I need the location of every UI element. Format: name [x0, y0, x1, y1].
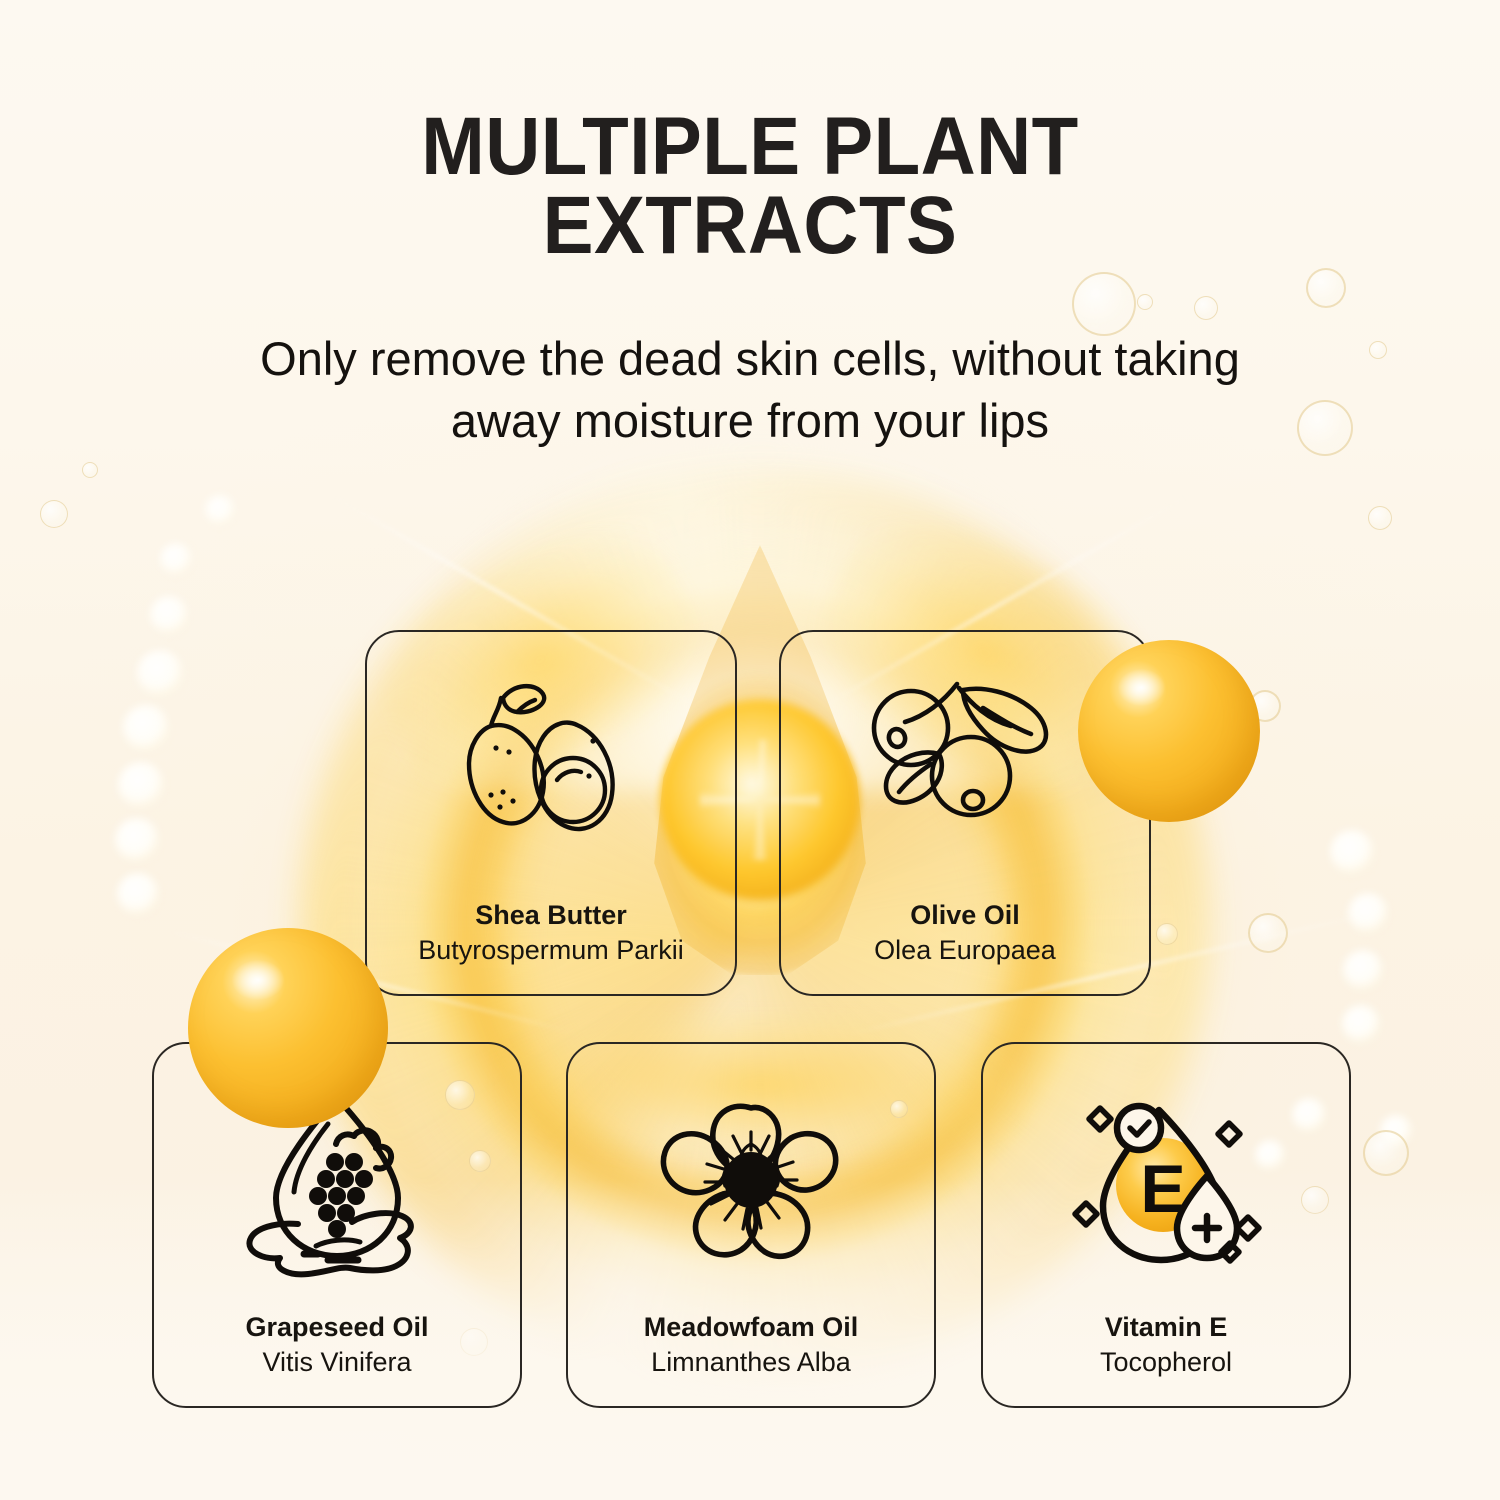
- bubble: [1194, 296, 1218, 320]
- bubble: [1368, 506, 1392, 530]
- bokeh-dot: [1342, 1005, 1380, 1043]
- ingredient-latin-name: Limnanthes Alba: [568, 1345, 934, 1380]
- bokeh-dot: [1343, 950, 1383, 990]
- ingredient-latin-name: Olea Europaea: [781, 933, 1149, 968]
- page-subtitle-line-1: Only remove the dead skin cells, without…: [110, 328, 1390, 390]
- bubble: [1248, 913, 1288, 953]
- bubble: [1137, 294, 1153, 310]
- bokeh-dot: [1380, 1115, 1412, 1147]
- bokeh-dot: [160, 543, 192, 575]
- ingredient-latin-name: Butyrospermum Parkii: [367, 933, 735, 968]
- bubble: [1363, 1130, 1409, 1176]
- page-subtitle: Only remove the dead skin cells, without…: [110, 328, 1390, 452]
- ingredient-card-text: Grapeseed Oil Vitis Vinifera: [154, 1310, 520, 1380]
- bokeh-dot: [205, 495, 235, 525]
- bokeh-dot: [150, 596, 188, 634]
- ingredient-card-text: Shea Butter Butyrospermum Parkii: [367, 898, 735, 968]
- ingredient-latin-name: Vitis Vinifera: [154, 1345, 520, 1380]
- vitamin-letter: E: [1140, 1151, 1185, 1227]
- vitamin-e-droplet-icon: E: [983, 1088, 1349, 1283]
- bokeh-dot: [118, 762, 164, 808]
- page-title-line-2: EXTRACTS: [53, 187, 1448, 266]
- ingredient-name: Shea Butter: [367, 898, 735, 933]
- ingredient-card-text: Olive Oil Olea Europaea: [781, 898, 1149, 968]
- ingredient-name: Grapeseed Oil: [154, 1310, 520, 1345]
- ingredient-card-text: Vitamin E Tocopherol: [983, 1310, 1349, 1380]
- ingredient-card-shea-butter[interactable]: Shea Butter Butyrospermum Parkii: [365, 630, 737, 996]
- pear-avocado-icon: [367, 668, 735, 858]
- bokeh-dot: [123, 705, 169, 751]
- bokeh-dot: [137, 650, 183, 696]
- bubble: [1156, 923, 1178, 945]
- ingredient-card-vitamin-e[interactable]: E Vitamin E Tocopherol: [981, 1042, 1351, 1408]
- ingredient-name: Meadowfoam Oil: [568, 1310, 934, 1345]
- ingredient-name: Vitamin E: [983, 1310, 1349, 1345]
- bubble: [40, 500, 68, 528]
- gold-sphere-left: [188, 928, 388, 1128]
- page-title-line-1: MULTIPLE PLANT: [421, 101, 1078, 192]
- bokeh-dot: [1348, 893, 1388, 933]
- bokeh-dot: [1330, 830, 1374, 874]
- ingredient-card-text: Meadowfoam Oil Limnanthes Alba: [568, 1310, 934, 1380]
- bubble: [1306, 268, 1346, 308]
- bubble: [82, 462, 98, 478]
- grape-droplet-icon: [154, 1088, 520, 1280]
- page-subtitle-line-2: away moisture from your lips: [110, 390, 1390, 452]
- flower-icon: [568, 1088, 934, 1278]
- infographic-canvas: MULTIPLE PLANT EXTRACTS Only remove the …: [0, 0, 1500, 1500]
- bubble: [1072, 272, 1136, 336]
- ingredient-name: Olive Oil: [781, 898, 1149, 933]
- page-title: MULTIPLE PLANT EXTRACTS: [53, 108, 1448, 265]
- gold-sphere-right: [1078, 640, 1260, 822]
- ingredient-card-meadowfoam-oil[interactable]: Meadowfoam Oil Limnanthes Alba: [566, 1042, 936, 1408]
- bokeh-dot: [115, 818, 159, 862]
- ingredient-latin-name: Tocopherol: [983, 1345, 1349, 1380]
- bokeh-dot: [117, 873, 159, 915]
